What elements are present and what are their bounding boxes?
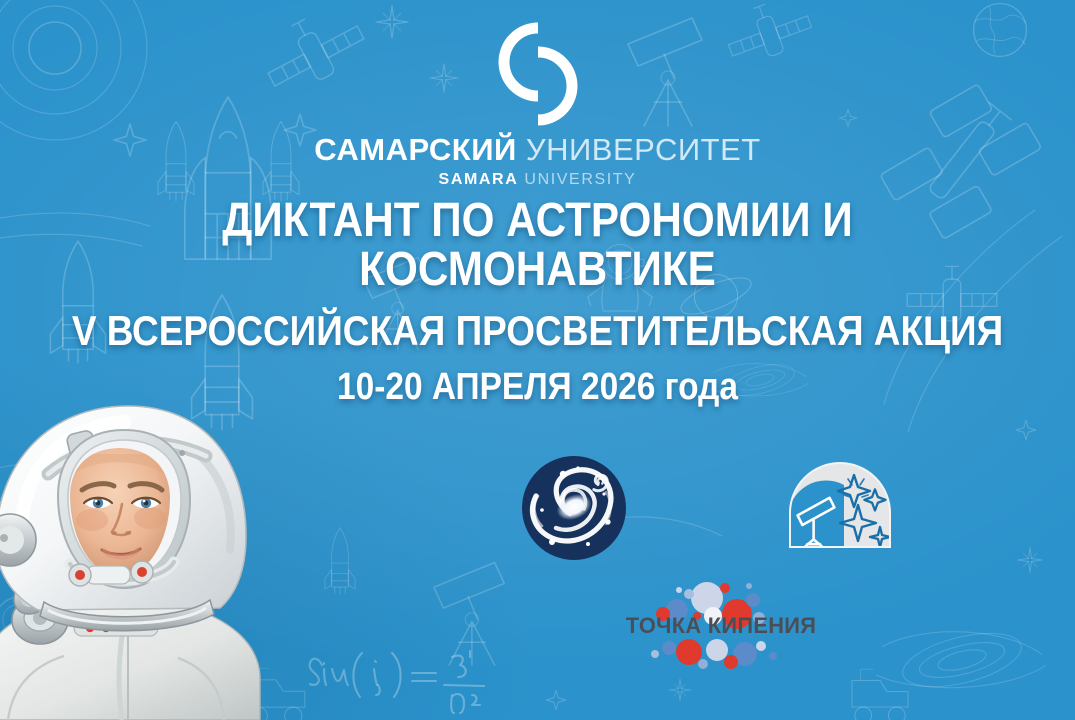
galaxy-emblem (520, 452, 628, 564)
event-subtitle: V ВСЕРОССИЙСКАЯ ПРОСВЕТИТЕЛЬСКАЯ АКЦИЯ (65, 309, 1011, 352)
tochka-kipeniya-wordmark: ТОЧКА КИПЕНИЯ (597, 613, 845, 639)
title-line-1: ДИКТАНТ ПО АСТРОНОМИИ И (65, 196, 1011, 245)
wordmark-samarskiy: САМАРСКИЙ (314, 132, 517, 167)
university-wordmark-ru: САМАРСКИЙ УНИВЕРСИТЕТ (0, 134, 1075, 165)
wordmark-samara: SAMARA (439, 171, 519, 188)
samara-university-logo: САМАРСКИЙ УНИВЕРСИТЕТ SAMARA UNIVERSITY (0, 18, 1075, 188)
samara-university-s-mark (492, 18, 584, 130)
poster-canvas: САМАРСКИЙ УНИВЕРСИТЕТ SAMARA UNIVERSITY … (0, 0, 1075, 720)
background-formula (310, 651, 484, 713)
planetarium-emblem (782, 455, 898, 555)
title-line-2: КОСМОНАВТИКЕ (65, 245, 1011, 294)
tochka-kipeniya-logo: ТОЧКА КИПЕНИЯ (593, 576, 849, 672)
wordmark-universitet: УНИВЕРСИТЕТ (526, 132, 761, 167)
university-wordmark-en: SAMARA UNIVERSITY (0, 172, 1075, 188)
gagarin-portrait (0, 370, 298, 720)
wordmark-university: UNIVERSITY (524, 171, 636, 188)
